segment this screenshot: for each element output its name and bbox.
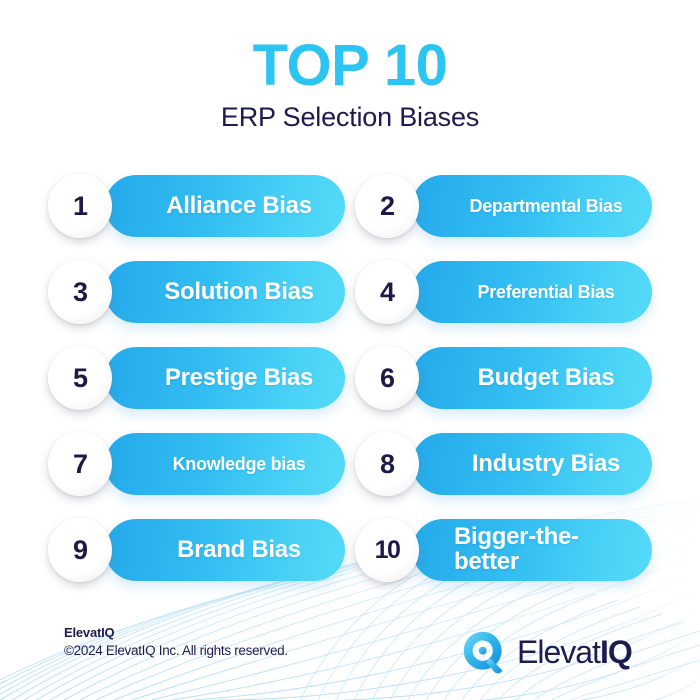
bias-item-number: 10	[375, 538, 400, 563]
bias-item-number: 7	[73, 451, 87, 478]
bias-item-2[interactable]: Departmental Bias 2	[355, 175, 652, 237]
bias-item-number-badge: 7	[48, 432, 112, 496]
bias-item-label: Budget Bias	[478, 366, 615, 391]
footer: ElevatIQ ©2024 ElevatIQ Inc. All rights …	[0, 608, 700, 700]
bias-item-label: Preferential Bias	[478, 283, 615, 302]
bias-item-number: 2	[380, 193, 394, 220]
elevatiq-q-logo-icon	[462, 630, 506, 674]
bias-item-label: Knowledge bias	[173, 455, 306, 474]
footer-logo-wordmark: ElevatIQ	[517, 636, 632, 668]
bias-item-number: 1	[73, 193, 87, 220]
bias-item-label: Solution Bias	[164, 280, 313, 305]
bias-item-number-badge: 10	[355, 518, 419, 582]
bias-item-number: 9	[73, 537, 87, 564]
bias-item-8[interactable]: Industry Bias 8	[355, 433, 652, 495]
bias-item-pill[interactable]: Knowledge bias	[105, 433, 345, 495]
bias-item-pill[interactable]: Budget Bias	[412, 347, 652, 409]
bias-item-pill[interactable]: Alliance Bias	[105, 175, 345, 237]
bias-item-number-badge: 6	[355, 346, 419, 410]
bias-item-pill[interactable]: Industry Bias	[412, 433, 652, 495]
bias-item-label: Brand Bias	[177, 538, 301, 563]
bias-item-pill[interactable]: Departmental Bias	[412, 175, 652, 237]
bias-item-number-badge: 1	[48, 174, 112, 238]
bias-item-pill[interactable]: Prestige Bias	[105, 347, 345, 409]
footer-copyright: ©2024 ElevatIQ Inc. All rights reserved.	[64, 642, 288, 660]
bias-item-number-badge: 3	[48, 260, 112, 324]
bias-item-3[interactable]: Solution Bias 3	[48, 261, 345, 323]
bias-item-label: Prestige Bias	[165, 366, 313, 391]
bias-item-label: Bigger-the-better	[454, 525, 638, 575]
bias-item-4[interactable]: Preferential Bias 4	[355, 261, 652, 323]
footer-logo-wordmark-bold: IQ	[600, 634, 632, 670]
footer-credits: ElevatIQ ©2024 ElevatIQ Inc. All rights …	[64, 624, 288, 660]
bias-item-number: 6	[380, 365, 394, 392]
bias-items-grid: Alliance Bias 1 Departmental Bias 2 Solu…	[48, 175, 652, 581]
bias-item-10[interactable]: Bigger-the-better 10	[355, 519, 652, 581]
bias-item-9[interactable]: Brand Bias 9	[48, 519, 345, 581]
bias-item-pill[interactable]: Solution Bias	[105, 261, 345, 323]
bias-item-number-badge: 2	[355, 174, 419, 238]
bias-item-7[interactable]: Knowledge bias 7	[48, 433, 345, 495]
bias-item-pill[interactable]: Brand Bias	[105, 519, 345, 581]
bias-item-number: 5	[73, 365, 87, 392]
bias-item-number: 3	[73, 279, 87, 306]
bias-item-label: Industry Bias	[472, 452, 620, 477]
bias-item-label: Departmental Bias	[470, 197, 623, 216]
footer-logo[interactable]: ElevatIQ	[462, 630, 632, 674]
bias-item-5[interactable]: Prestige Bias 5	[48, 347, 345, 409]
bias-item-number: 4	[380, 279, 394, 306]
page-title-subtitle: ERP Selection Biases	[0, 103, 700, 133]
bias-item-pill[interactable]: Preferential Bias	[412, 261, 652, 323]
bias-item-number-badge: 4	[355, 260, 419, 324]
bias-item-number: 8	[380, 451, 394, 478]
bias-item-label: Alliance Bias	[166, 194, 312, 219]
header: TOP 10 ERP Selection Biases	[0, 0, 700, 133]
bias-item-6[interactable]: Budget Bias 6	[355, 347, 652, 409]
bias-item-1[interactable]: Alliance Bias 1	[48, 175, 345, 237]
bias-item-number-badge: 5	[48, 346, 112, 410]
page-title-main: TOP 10	[0, 36, 700, 95]
bias-item-number-badge: 9	[48, 518, 112, 582]
infographic-canvas: TOP 10 ERP Selection Biases Alliance Bia…	[0, 0, 700, 700]
footer-brand-name: ElevatIQ	[64, 624, 288, 642]
bias-item-number-badge: 8	[355, 432, 419, 496]
footer-logo-wordmark-light: Elevat	[517, 634, 600, 670]
bias-item-pill[interactable]: Bigger-the-better	[412, 519, 652, 581]
